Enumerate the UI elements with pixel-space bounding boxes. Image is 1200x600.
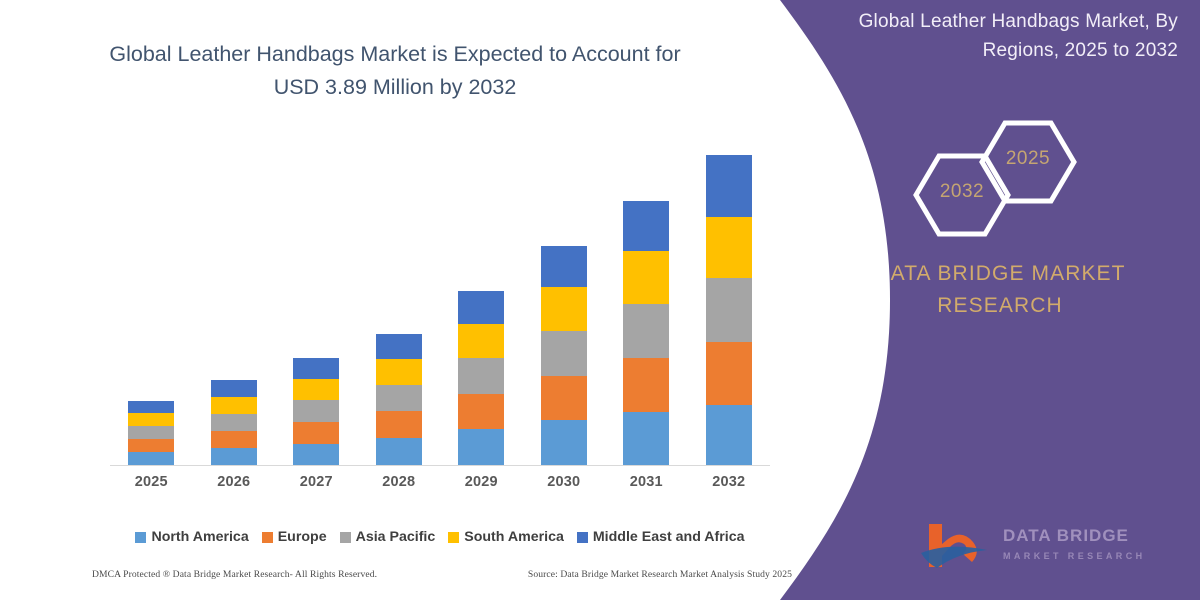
bar-segment	[623, 201, 669, 251]
legend-label: Asia Pacific	[356, 529, 436, 545]
bar-segment	[623, 304, 669, 358]
bar-segment	[128, 452, 174, 465]
legend-item[interactable]: Asia Pacific	[340, 529, 436, 545]
bar-column	[440, 140, 523, 465]
bar-segment	[211, 397, 257, 414]
bar-segment	[293, 379, 339, 400]
panel-title: Global Leather Handbags Market, By Regio…	[808, 8, 1178, 65]
x-axis-label: 2025	[110, 474, 193, 498]
bar-column	[523, 140, 606, 465]
legend-swatch	[135, 532, 146, 543]
chart-area: Global Leather Handbags Market is Expect…	[0, 0, 830, 600]
brand-logo-text-sub: MARKET RESEARCH	[1003, 551, 1168, 561]
bar-segment	[706, 217, 752, 278]
stacked-bar[interactable]	[706, 155, 752, 465]
brand-name: DATA BRIDGE MARKET RESEARCH	[820, 258, 1180, 321]
panel-title-line-1: Global Leather Handbags Market, By	[808, 8, 1178, 37]
legend-item[interactable]: North America	[135, 529, 248, 545]
bar-segment	[128, 426, 174, 439]
bar-segment	[376, 438, 422, 465]
page-title: Global Leather Handbags Market is Expect…	[55, 38, 735, 105]
panel-title-line-2: Regions, 2025 to 2032	[808, 37, 1178, 66]
bar-segment	[706, 405, 752, 465]
stacked-bar[interactable]	[211, 380, 257, 465]
bar-segment	[541, 376, 587, 420]
bar-column	[688, 140, 771, 465]
infographic-page: Global Leather Handbags Market is Expect…	[0, 0, 1200, 600]
bar-segment	[376, 359, 422, 385]
bar-segment	[541, 331, 587, 376]
brand-logo-text-main: DATA BRIDGE	[1003, 526, 1168, 546]
legend-swatch	[577, 532, 588, 543]
brand-logo-text: DATA BRIDGE MARKET RESEARCH	[1003, 526, 1168, 561]
legend-label: North America	[151, 529, 248, 545]
bar-segment	[376, 334, 422, 359]
brand-name-line-2: RESEARCH	[820, 290, 1180, 322]
bar-segment	[211, 380, 257, 397]
brand-logo: DATA BRIDGE MARKET RESEARCH	[915, 514, 1165, 582]
legend-item[interactable]: Middle East and Africa	[577, 529, 745, 545]
bar-segment	[706, 278, 752, 342]
bar-segment	[211, 448, 257, 465]
bar-segment	[376, 385, 422, 411]
stacked-bar[interactable]	[128, 401, 174, 465]
bar-segment	[293, 422, 339, 444]
bar-segment	[293, 358, 339, 379]
legend-item[interactable]: South America	[448, 529, 564, 545]
x-axis-line	[110, 465, 770, 466]
brand-name-line-1: DATA BRIDGE MARKET	[820, 258, 1180, 290]
bar-segment	[211, 431, 257, 448]
page-title-line-1: Global Leather Handbags Market is Expect…	[55, 38, 735, 71]
bar-segment	[706, 342, 752, 405]
bar-column	[358, 140, 441, 465]
legend-swatch	[448, 532, 459, 543]
bar-segment	[211, 414, 257, 431]
x-axis-label: 2030	[523, 474, 606, 498]
bar-segment	[458, 358, 504, 394]
bar-segment	[623, 358, 669, 412]
bar-segment	[541, 246, 587, 287]
bar-segment	[293, 400, 339, 422]
bridge-mark-icon	[915, 520, 1001, 578]
bar-segment	[541, 420, 587, 465]
bar-column	[110, 140, 193, 465]
bar-segment	[458, 429, 504, 465]
bar-segment	[623, 251, 669, 304]
x-axis-label: 2031	[605, 474, 688, 498]
bar-column	[193, 140, 276, 465]
legend-label: Middle East and Africa	[593, 529, 745, 545]
bar-segment	[541, 287, 587, 331]
chart-legend: North AmericaEuropeAsia PacificSouth Ame…	[110, 529, 770, 545]
stacked-bar[interactable]	[293, 358, 339, 465]
bar-segment	[376, 411, 422, 438]
page-title-line-2: USD 3.89 Million by 2032	[55, 71, 735, 104]
bar-column	[275, 140, 358, 465]
legend-swatch	[262, 532, 273, 543]
stacked-bar[interactable]	[623, 201, 669, 465]
hexagon-label-end-year: 2032	[912, 181, 1012, 203]
hexagon-badge-end-year: 2032	[912, 151, 1012, 239]
x-axis-label: 2029	[440, 474, 523, 498]
x-axis-label: 2026	[193, 474, 276, 498]
x-axis-label: 2027	[275, 474, 358, 498]
stacked-bar[interactable]	[458, 291, 504, 465]
bar-segment	[458, 291, 504, 324]
bar-segment	[128, 439, 174, 452]
legend-swatch	[340, 532, 351, 543]
x-axis-labels: 20252026202720282029203020312032	[110, 474, 770, 498]
bar-segment	[458, 394, 504, 429]
bar-segment	[458, 324, 504, 358]
legend-label: South America	[464, 529, 564, 545]
bar-segment	[293, 444, 339, 465]
brand-panel: Global Leather Handbags Market, By Regio…	[780, 0, 1200, 600]
bar-segment	[706, 155, 752, 217]
x-axis-label: 2032	[688, 474, 771, 498]
bar-segment	[623, 412, 669, 465]
data-bridge-logo-icon	[915, 520, 1001, 578]
legend-item[interactable]: Europe	[262, 529, 327, 545]
stacked-bar[interactable]	[376, 334, 422, 465]
bar-group	[110, 140, 770, 465]
bar-segment	[128, 413, 174, 426]
footer: DMCA Protected ® Data Bridge Market Rese…	[92, 569, 792, 580]
legend-label: Europe	[278, 529, 327, 545]
stacked-bar[interactable]	[541, 246, 587, 465]
copyright-text: DMCA Protected ® Data Bridge Market Rese…	[92, 569, 377, 580]
plot-area	[110, 140, 770, 465]
bar-column	[605, 140, 688, 465]
x-axis-label: 2028	[358, 474, 441, 498]
bar-segment	[128, 401, 174, 413]
source-text: Source: Data Bridge Market Research Mark…	[528, 569, 792, 580]
hexagon-badges: 2025 2032	[900, 118, 1100, 228]
